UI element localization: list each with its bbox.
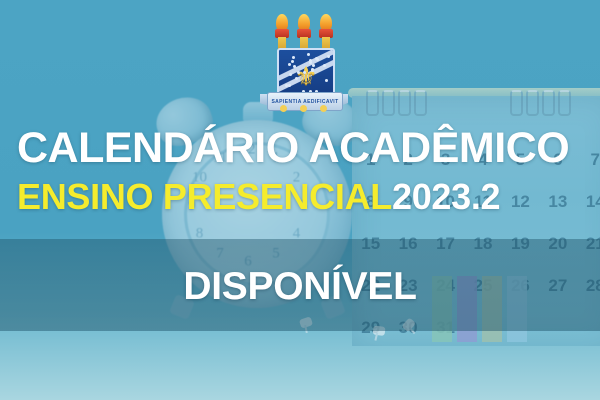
headline-line-2: ENSINO PRESENCIAL2023.2 xyxy=(17,177,500,217)
shield-star xyxy=(307,53,310,56)
shield-star xyxy=(288,84,291,87)
ufpb-crest: ⚜ SAPIENTIA AEDIFICAVIT xyxy=(264,14,344,109)
headline-term: 2023.2 xyxy=(392,176,500,217)
headline-line-3: DISPONÍVEL xyxy=(0,266,600,308)
shield-star xyxy=(327,55,330,58)
shield-star xyxy=(325,79,328,82)
crest-foot xyxy=(280,105,287,112)
shield-star xyxy=(293,65,296,68)
headline-highlight: ENSINO PRESENCIAL xyxy=(17,176,392,217)
crest-foot xyxy=(320,105,327,112)
shield-star xyxy=(315,57,318,60)
academic-calendar-banner: 121234567891011 123456789101112131415161… xyxy=(0,0,600,400)
shield-star xyxy=(289,73,292,76)
headline-line-1: CALENDÁRIO ACADÊMICO xyxy=(17,125,569,171)
shield-star xyxy=(323,64,326,67)
shield-star xyxy=(292,56,295,59)
pushpin-tip xyxy=(374,333,378,341)
shield-star xyxy=(288,63,291,66)
fleur-de-lis-icon: ⚜ xyxy=(294,63,317,89)
crest-motto-text: SAPIENTIA AEDIFICAVIT xyxy=(271,99,338,105)
crest-foot xyxy=(300,105,307,112)
